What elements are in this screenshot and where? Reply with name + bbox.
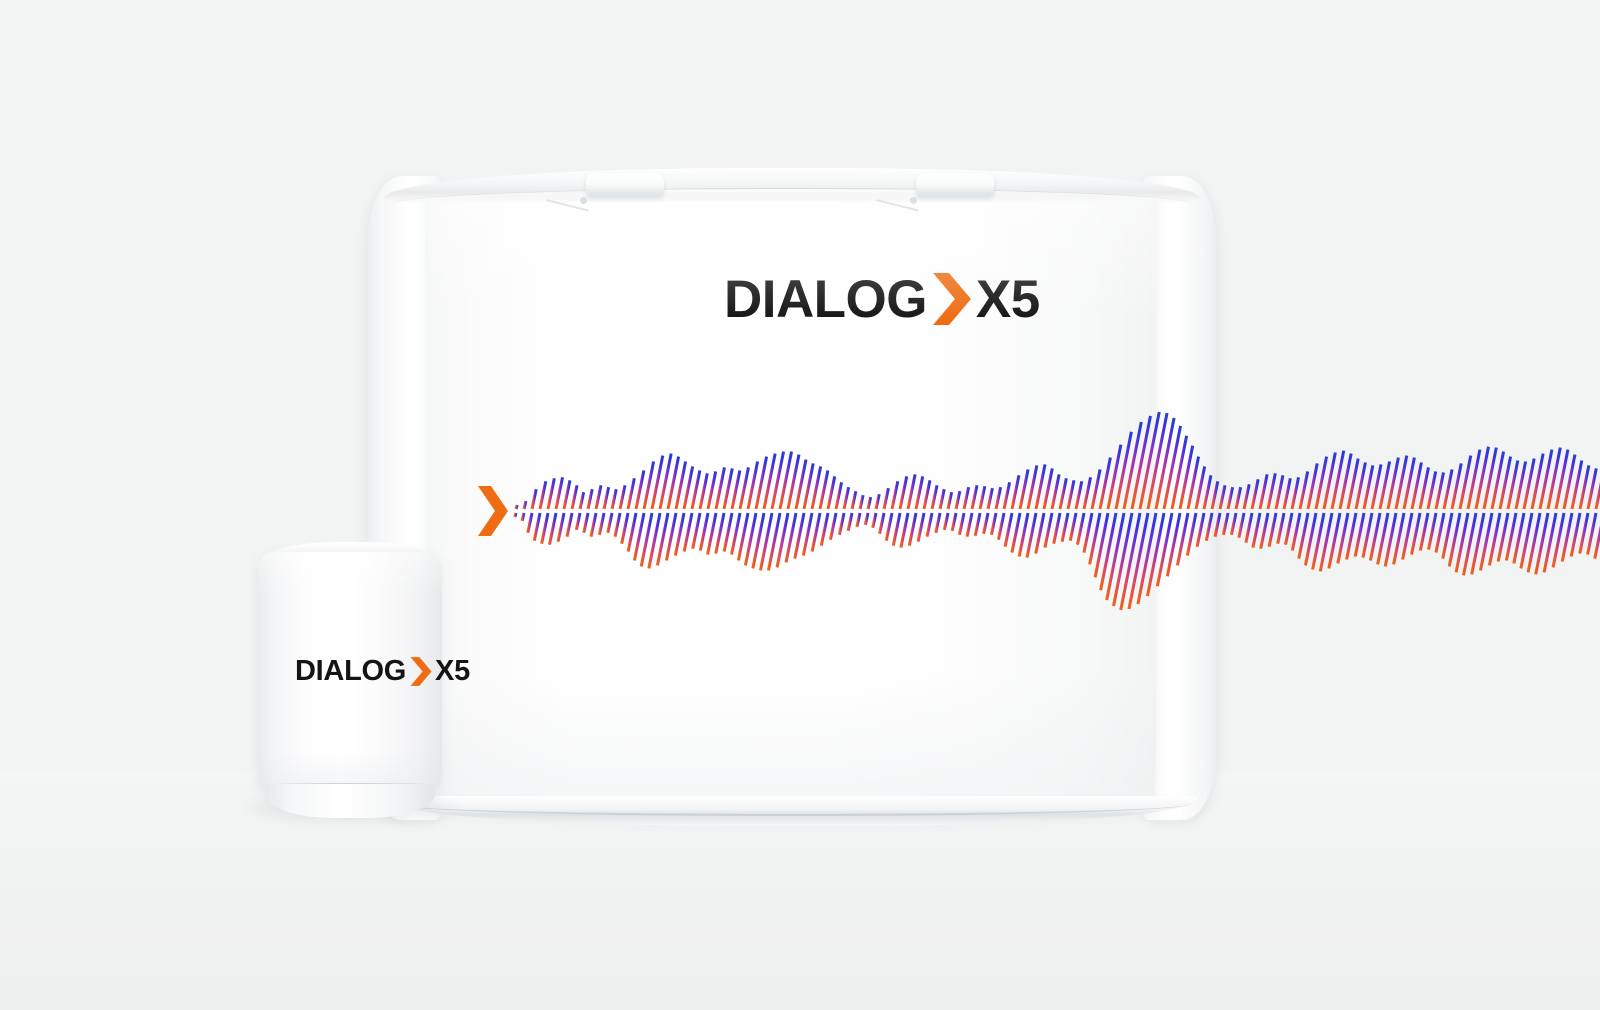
podium-base-plinth	[265, 784, 435, 818]
waveform-bar	[596, 485, 601, 509]
waveform-bar	[804, 463, 813, 509]
waveform-bar	[522, 513, 524, 521]
waveform-bar	[564, 480, 570, 509]
waveform-bar	[628, 513, 636, 552]
waveform-bar	[812, 466, 821, 509]
waveform-bar	[900, 476, 907, 509]
waveform-bar	[584, 513, 588, 533]
waveform-bar	[948, 492, 952, 509]
waveform-bar	[516, 505, 517, 509]
waveform-bar	[1580, 513, 1588, 554]
waveform-bar	[532, 489, 536, 509]
waveform-bar	[830, 513, 836, 540]
waveform-bar	[1004, 482, 1010, 509]
waveform-bar	[1299, 513, 1308, 559]
waveform-bar	[1012, 475, 1019, 509]
waveform-bar	[972, 485, 977, 509]
waveform-bar	[628, 478, 634, 509]
waveform-bar	[975, 513, 980, 536]
podium-logo: DIALOG X5	[295, 656, 470, 687]
waveform-bar	[1412, 513, 1420, 555]
waveform-bar	[1070, 513, 1076, 541]
spotlight-left[interactable]	[586, 173, 664, 197]
waveform-bar	[716, 467, 724, 509]
reception-podium[interactable]: DIALOG X5	[258, 542, 442, 818]
waveform-bar	[1236, 487, 1241, 509]
exhibition-booth[interactable]: DIALOG X5	[368, 168, 1216, 818]
waveform-bar	[852, 491, 856, 509]
waveform-bar	[1284, 478, 1290, 509]
chevron-right-icon	[478, 486, 508, 536]
waveform-bar	[576, 513, 580, 530]
waveform-bar	[1220, 485, 1225, 509]
waveform-bar	[1420, 513, 1428, 551]
waveform-bar	[1246, 513, 1252, 543]
waveform-bar	[1084, 477, 1091, 509]
waveform-bar	[1036, 464, 1045, 509]
waveform-bar	[909, 513, 916, 546]
booth-logo-word-dialog: DIALOG	[724, 273, 927, 326]
waveform-bar	[716, 513, 724, 554]
waveform-bar	[927, 513, 932, 537]
waveform-bar	[612, 489, 616, 509]
waveform-bar	[908, 474, 915, 509]
waveform-bar	[892, 481, 898, 509]
waveform-bar	[1571, 513, 1580, 557]
waveform-bar	[1138, 513, 1156, 604]
booth-mockup-scene: DIALOG X5	[0, 0, 1600, 1010]
waveform-bar	[675, 513, 684, 556]
waveform-bar	[708, 513, 716, 555]
waveform-bar	[1428, 471, 1436, 509]
waveform-bar	[1278, 513, 1284, 544]
podium-logo-word-x5: X5	[435, 657, 470, 686]
podium-logo-word-dialog: DIALOG	[295, 657, 406, 686]
waveform-bar	[548, 478, 554, 509]
waveform-bar	[812, 513, 820, 552]
waveform-bar	[860, 495, 863, 509]
waveform-bar	[1239, 513, 1244, 538]
waveform-bar	[959, 513, 964, 535]
waveform-bar	[924, 480, 930, 509]
waveform-bar	[932, 485, 937, 509]
waveform-bar	[1285, 513, 1292, 545]
waveform-bar	[1012, 513, 1020, 553]
waveform-bar	[549, 513, 556, 545]
waveform-bar	[944, 513, 948, 530]
waveform-bar	[940, 489, 944, 509]
waveform-bar	[732, 470, 740, 509]
waveform-bar	[724, 468, 732, 509]
waveform-bar	[1077, 513, 1084, 545]
waveform-bar	[1027, 513, 1036, 558]
waveform-bar	[1107, 513, 1124, 600]
waveform-bar	[620, 485, 625, 509]
spotlight-left-pivot	[580, 197, 587, 204]
waveform-bar	[876, 494, 879, 509]
waveform-bar	[844, 487, 849, 509]
booth-logo: DIALOG X5	[724, 271, 1040, 327]
waveform-bar	[1252, 479, 1258, 509]
waveform-bar	[700, 513, 708, 551]
waveform-bar	[1253, 513, 1260, 548]
waveform-bar	[1443, 513, 1452, 559]
waveform-bar	[542, 513, 548, 544]
waveform-bar	[836, 482, 842, 509]
waveform-bar	[1101, 513, 1116, 590]
waveform-bar	[901, 513, 908, 548]
waveform-bar	[1028, 465, 1037, 509]
waveform-bar	[998, 513, 1004, 540]
chevron-right-icon	[929, 271, 975, 327]
waveform-bar	[588, 489, 592, 509]
waveform-bar	[1068, 480, 1074, 509]
waveform-bar	[868, 497, 871, 509]
waveform-bar	[1260, 474, 1267, 509]
waveform-bar	[873, 513, 876, 528]
waveform-bar	[591, 513, 596, 537]
waveform-bar	[839, 513, 844, 535]
spotlight-right[interactable]	[916, 173, 994, 197]
waveform-bar	[1364, 465, 1373, 509]
waveform-bar	[1588, 468, 1596, 509]
waveform-bar	[886, 513, 892, 541]
waveform-bar	[580, 492, 584, 509]
chevron-right-icon	[408, 656, 434, 687]
waveform-bar	[534, 513, 540, 541]
waveform-bar	[1019, 513, 1028, 557]
waveform-bar	[918, 513, 924, 542]
spotlight-right-head	[916, 173, 994, 197]
waveform-bar	[540, 481, 546, 509]
waveform-bar	[1363, 513, 1372, 558]
waveform-bar	[708, 471, 716, 509]
waveform-bar	[700, 473, 707, 509]
waveform-bar	[684, 513, 692, 552]
waveform-bar	[599, 513, 604, 535]
waveform-bar	[604, 487, 609, 509]
waveform-bar	[1020, 469, 1028, 509]
waveform-graphic	[474, 406, 1168, 616]
waveform-bar	[828, 476, 835, 509]
waveform-bar	[1588, 513, 1596, 555]
waveform-bar	[1261, 513, 1268, 549]
podium-body-panel[interactable]: DIALOG X5	[258, 552, 442, 796]
waveform-bar	[1084, 513, 1092, 553]
waveform-bar	[724, 513, 732, 552]
waveform-bar	[1428, 513, 1436, 550]
waveform-bar	[1116, 432, 1131, 509]
waveform-bar	[1005, 513, 1012, 547]
waveform-bar	[1436, 472, 1444, 509]
waveform-bar	[880, 513, 884, 534]
waveform-bar	[936, 513, 940, 533]
waveform-bar	[567, 513, 572, 537]
spotlight-right-pivot	[910, 197, 917, 204]
waveform-bar	[857, 513, 860, 527]
waveform-bar	[732, 513, 740, 555]
waveform-bar	[1231, 513, 1236, 535]
waveform-bar	[1060, 478, 1066, 509]
waveform-bar	[1300, 471, 1308, 509]
waveform-bar	[1054, 513, 1060, 544]
waveform-bar	[1036, 513, 1044, 554]
waveform-bar	[1076, 481, 1082, 509]
waveform-bar	[615, 513, 620, 537]
waveform-bar	[558, 513, 564, 542]
waveform-bar	[740, 467, 748, 509]
waveform-bar	[1052, 474, 1059, 509]
waveform-bar	[1269, 513, 1276, 547]
waveform-bar	[572, 485, 577, 509]
waveform-bar	[1228, 487, 1233, 509]
waveform-bar	[1092, 469, 1100, 509]
waveform-bar	[622, 513, 628, 544]
waveform-bar	[1223, 513, 1228, 535]
waveform-bar	[996, 487, 1001, 509]
waveform-bar	[524, 501, 526, 509]
waveform-bar	[1114, 513, 1132, 606]
waveform-bar	[893, 513, 900, 546]
waveform-bar	[1580, 465, 1589, 509]
waveform-bar	[1355, 513, 1364, 557]
waveform-bar	[865, 513, 868, 525]
waveform-bar	[1436, 513, 1444, 553]
waveform-bar	[556, 477, 563, 509]
booth-backwall-panel[interactable]: DIALOG X5	[428, 184, 1156, 810]
waveform-bar	[1292, 477, 1299, 509]
waveform-bar	[991, 513, 996, 535]
waveform-bar	[1244, 484, 1249, 509]
waveform-bar	[636, 470, 644, 509]
waveform-bar	[1444, 469, 1452, 509]
waveform-bar	[821, 513, 828, 546]
waveform-bar	[528, 513, 532, 533]
waveform-bar	[1292, 513, 1300, 551]
waveform-bar	[848, 513, 852, 531]
booth-logo-word-x5: X5	[976, 273, 1040, 326]
waveform-bar	[1147, 513, 1164, 596]
waveform-bar	[1276, 475, 1283, 509]
waveform-bar	[515, 513, 516, 517]
waveform-bar	[967, 513, 972, 537]
waveform-bar	[988, 488, 992, 509]
waveform-bar	[1045, 513, 1052, 548]
waveform-bar	[1044, 468, 1052, 509]
waveform-bar	[1420, 467, 1428, 509]
waveform-bar	[980, 486, 985, 509]
waveform-bar	[964, 487, 969, 509]
waveform-bar	[1268, 473, 1275, 509]
waveform-bar	[916, 476, 923, 509]
waveform-bar	[956, 491, 960, 509]
waveform-bar	[1062, 513, 1068, 542]
waveform-bar	[684, 466, 693, 509]
waveform-bar	[803, 513, 812, 556]
waveform-bar	[692, 470, 700, 509]
waveform-bar	[820, 470, 828, 509]
spotlight-left-head	[586, 173, 664, 197]
waveform-bar	[1372, 464, 1381, 509]
waveform-bar	[884, 488, 888, 509]
waveform-bar	[1124, 422, 1141, 509]
waveform-bar	[952, 513, 956, 531]
waveform-bar	[984, 513, 988, 534]
waveform-bar	[608, 513, 612, 533]
waveform-bar	[693, 513, 700, 549]
